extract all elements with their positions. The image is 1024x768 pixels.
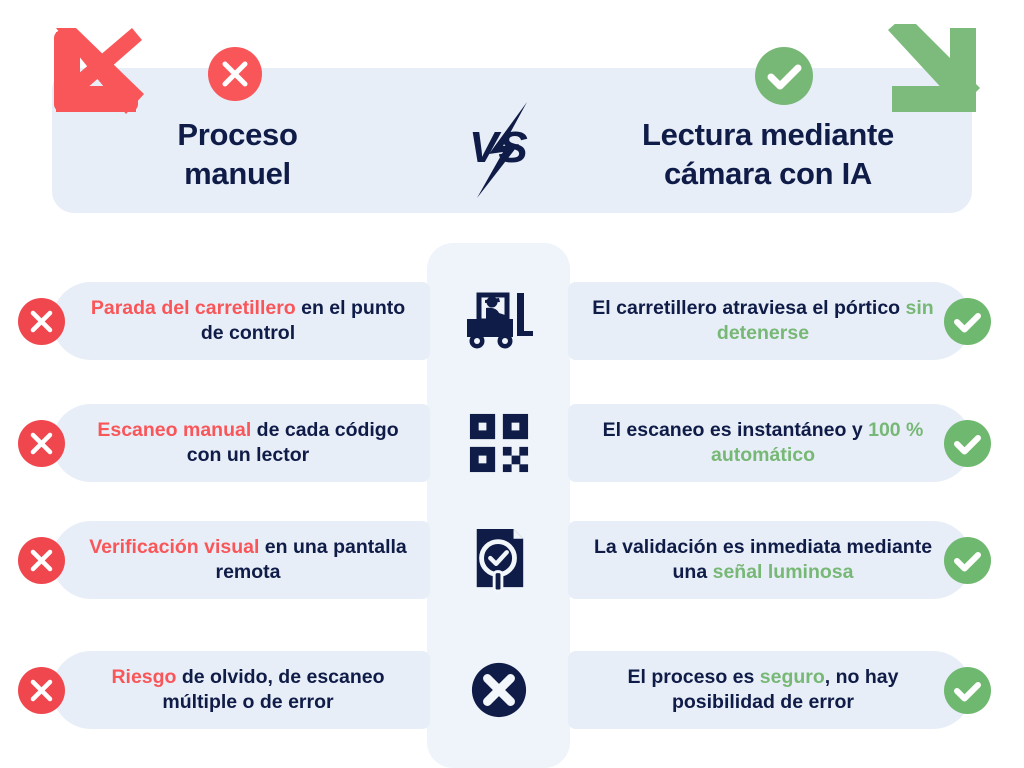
document-verify-icon [455,529,543,591]
check-mark-icon [944,537,991,584]
check-mark-icon [944,667,991,714]
header-title-left-line2: manuel [60,154,415,193]
row-text-left: Parada del carretillero en el punto de c… [78,282,418,360]
row-text-right: El escaneo es instantáneo y 100 % automá… [588,404,938,482]
row-plain-right: El proceso es [628,666,760,688]
comparison-row: Parada del carretillero en el punto de c… [0,282,1024,360]
row-rest-left: de olvido, de escaneo múltiple o de erro… [162,666,384,713]
row-highlight-left: Riesgo [111,666,176,688]
header-title-right-line1: Lectura mediante [568,115,968,154]
arrow-down-right-icon [884,24,982,116]
x-mark-icon [18,298,65,345]
check-mark-icon [944,298,991,345]
row-highlight-right: seguro [760,666,825,688]
comparison-row: Escaneo manual de cada código con un lec… [0,404,1024,482]
comparison-row: Verificación visual en una pantalla remo… [0,521,1024,599]
row-text-left: Escaneo manual de cada código con un lec… [78,404,418,482]
check-circle-icon [755,47,813,105]
x-circle-icon [208,47,262,101]
x-mark-icon [18,537,65,584]
arrow-down-left-icon [48,24,146,116]
versus-divider: VS [455,100,551,200]
forklift-icon [455,290,543,352]
row-text-right: El carretillero atraviesa el pórtico sin… [588,282,938,360]
row-highlight-right: señal luminosa [713,561,854,583]
row-plain-right: El escaneo es instantáneo y [603,419,869,441]
header-title-left-line1: Proceso [60,115,415,154]
x-mark-icon [18,420,65,467]
comparison-row: Riesgo de olvido, de escaneo múltiple o … [0,651,1024,729]
row-text-left: Riesgo de olvido, de escaneo múltiple o … [78,651,418,729]
x-circle-dark-icon [455,659,543,721]
row-text-right: La validación es inmediata mediante una … [588,521,938,599]
x-mark-icon [18,667,65,714]
row-highlight-left: Verificación visual [89,536,259,558]
row-plain-right: El carretillero atraviesa el pórtico [592,297,905,319]
header-title-right: Lectura mediante cámara con IA [568,115,968,194]
row-highlight-left: Escaneo manual [97,419,251,441]
row-highlight-left: Parada del carretillero [91,297,296,319]
check-mark-icon [944,420,991,467]
row-text-left: Verificación visual en una pantalla remo… [78,521,418,599]
row-text-right: El proceso es seguro, no hay posibilidad… [588,651,938,729]
qr-code-icon [455,412,543,474]
header-title-right-line2: cámara con IA [568,154,968,193]
header-title-left: Proceso manuel [60,115,415,194]
